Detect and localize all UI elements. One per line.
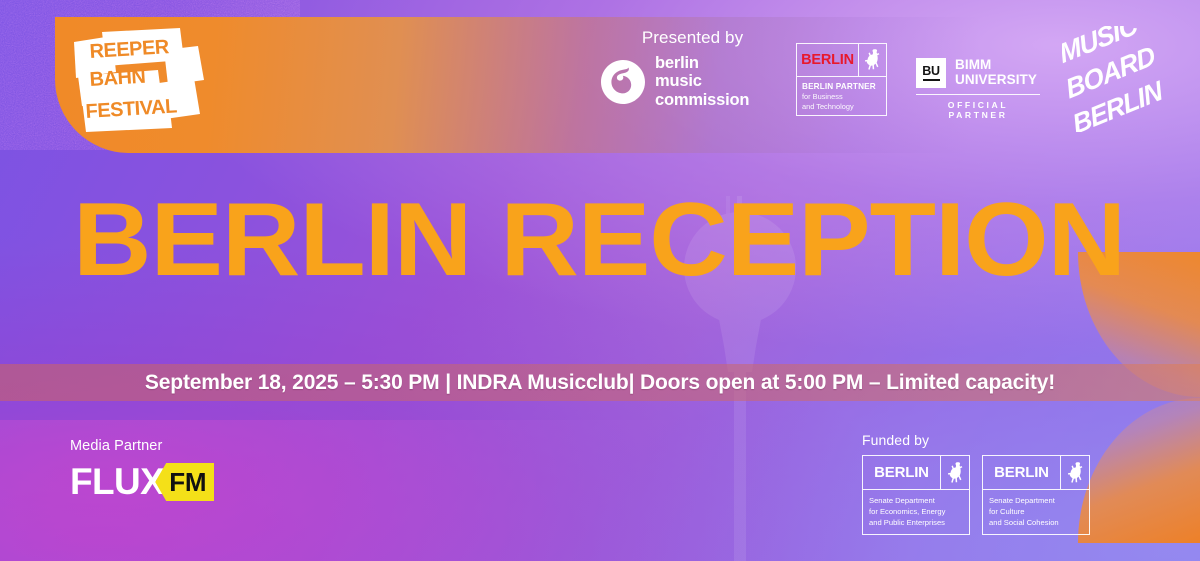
berlin-music-commission-logo[interactable]: berlin music commission	[600, 54, 785, 109]
bimm-divider	[916, 94, 1040, 95]
music-board-berlin-logo[interactable]: MUSIC BOARD BERLIN	[1062, 26, 1180, 132]
bimm-bu-text: BU	[922, 65, 939, 78]
senate-wordmark-economics: BERLIN	[863, 456, 941, 489]
bimm-bu-monogram: BU	[916, 58, 946, 88]
funded-by-block: Funded by BERLIN Senate Department for E…	[862, 432, 1092, 535]
bimm-name-line-1: BIMM	[955, 58, 1037, 73]
senate-sub-1: Senate Department	[989, 495, 1083, 506]
berlin-partner-top: BERLIN	[797, 44, 886, 77]
berlin-partner-logo[interactable]: BERLIN BERLIN PARTNER for Business and T…	[796, 43, 887, 116]
page-title: BERLIN RECEPTION	[73, 188, 1181, 292]
senate-sub-3: and Public Enterprises	[869, 517, 963, 528]
media-partner-label: Media Partner	[70, 438, 214, 454]
bimm-row: BU BIMM UNIVERSITY	[916, 58, 1040, 88]
senate-logo-culture[interactable]: BERLIN Senate Department for Culture and…	[982, 455, 1090, 535]
berlin-bear-icon	[941, 456, 969, 489]
senate-top-economics: BERLIN	[863, 456, 969, 490]
presented-by-label: Presented by	[600, 28, 785, 48]
bimm-university-logo[interactable]: BU BIMM UNIVERSITY OFFICIAL PARTNER	[916, 58, 1040, 120]
bimm-wordmark: BIMM UNIVERSITY	[955, 58, 1037, 87]
berlin-partner-sub-1: for Business	[802, 92, 886, 102]
berlin-partner-sub-2: and Technology	[802, 102, 886, 112]
senate-sub-1: Senate Department	[869, 495, 963, 506]
senate-sub-2: for Economics, Energy	[869, 506, 963, 517]
bmc-circle-icon	[600, 59, 646, 105]
senate-logo-economics[interactable]: BERLIN Senate Department for Economics, …	[862, 455, 970, 535]
media-partner-block: Media Partner FLUX FM	[70, 438, 214, 501]
senate-sub-3: and Social Cohesion	[989, 517, 1083, 528]
berlin-partner-caption: BERLIN PARTNER for Business and Technolo…	[797, 77, 886, 112]
senate-sub-2: for Culture	[989, 506, 1083, 517]
bmc-line-3: commission	[655, 91, 749, 109]
fluxfm-logo[interactable]: FLUX FM	[70, 463, 214, 501]
event-banner: REEPER BAHN FESTIVAL Presented by berlin…	[0, 0, 1200, 561]
event-details-bar: September 18, 2025 – 5:30 PM | INDRA Mus…	[0, 364, 1200, 401]
fm-badge: FM	[155, 463, 214, 501]
bimm-official-partner-label: OFFICIAL PARTNER	[916, 100, 1040, 120]
bimm-bu-underline	[923, 79, 940, 81]
berlin-bear-icon	[1061, 456, 1089, 489]
senate-wordmark-culture: BERLIN	[983, 456, 1061, 489]
berlin-bear-icon	[859, 44, 886, 76]
svg-text:BAHN: BAHN	[89, 66, 146, 91]
bmc-line-2: music	[655, 72, 749, 90]
bmc-line-1: berlin	[655, 54, 749, 72]
berlin-partner-wordmark: BERLIN	[797, 44, 859, 76]
bmc-wordmark: berlin music commission	[655, 54, 749, 109]
senate-caption-economics: Senate Department for Economics, Energy …	[863, 490, 969, 534]
flux-wordmark: FLUX	[70, 463, 164, 501]
reeperbahn-festival-logo[interactable]: REEPER BAHN FESTIVAL	[72, 28, 220, 132]
berlin-partner-name: BERLIN PARTNER	[802, 82, 886, 92]
funded-logo-row: BERLIN Senate Department for Economics, …	[862, 455, 1092, 535]
presented-by-block: Presented by berlin music commission	[600, 28, 785, 109]
senate-top-culture: BERLIN	[983, 456, 1089, 490]
funded-by-label: Funded by	[862, 432, 1092, 448]
bimm-name-line-2: UNIVERSITY	[955, 73, 1037, 88]
senate-caption-culture: Senate Department for Culture and Social…	[983, 490, 1089, 534]
event-details-text: September 18, 2025 – 5:30 PM | INDRA Mus…	[0, 371, 1200, 395]
